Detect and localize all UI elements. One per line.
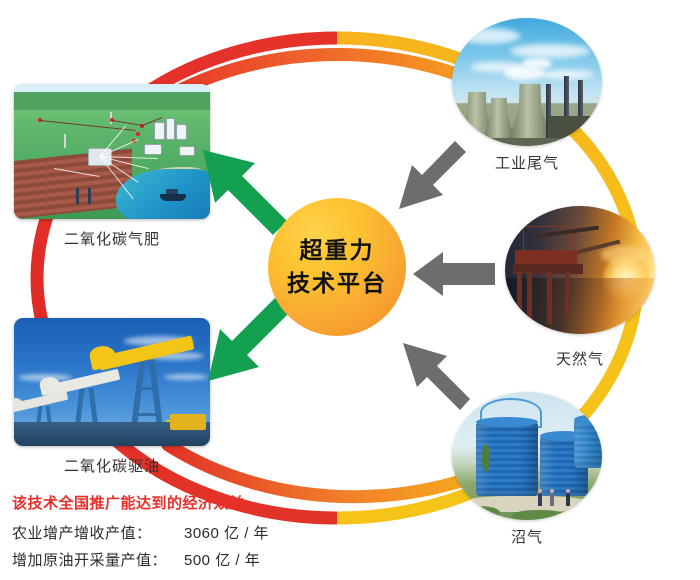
benefit-value-crude-oil: 500 亿 / 年 [184,549,260,570]
caption-industrial-exhaust: 工业尾气 [452,152,602,173]
benefit-heading: 该技术全国推广能达到的经济效益 [12,492,269,513]
benefit-label-crude-oil: 增加原油开采量产值： [12,549,184,570]
input-image-natural-gas [505,206,655,334]
hub-title-line1: 超重力 [300,234,375,267]
input-image-industrial-exhaust [452,18,602,146]
caption-biogas: 沼气 [452,526,602,547]
benefit-label-agriculture: 农业增产增收产值： [12,522,184,543]
output-image-co2-eor [14,318,210,446]
input-image-biogas [452,392,602,520]
hub-title-line2: 技术平台 [287,267,387,300]
benefit-value-agriculture: 3060 亿 / 年 [184,522,269,543]
caption-natural-gas: 天然气 [505,348,655,369]
output-image-co2-fertilizer [14,84,210,219]
caption-co2-eor: 二氧化碳驱油 [14,455,210,476]
benefit-row-agriculture: 农业增产增收产值： 3060 亿 / 年 [12,522,269,543]
benefit-row-crude-oil: 增加原油开采量产值： 500 亿 / 年 [12,549,269,570]
center-hub: 超重力 技术平台 [268,198,406,336]
economic-benefit-block: 该技术全国推广能达到的经济效益 农业增产增收产值： 3060 亿 / 年 增加原… [12,492,269,576]
infographic-canvas: 二氧化碳气肥 [0,0,700,580]
caption-co2-fertilizer: 二氧化碳气肥 [14,228,210,249]
